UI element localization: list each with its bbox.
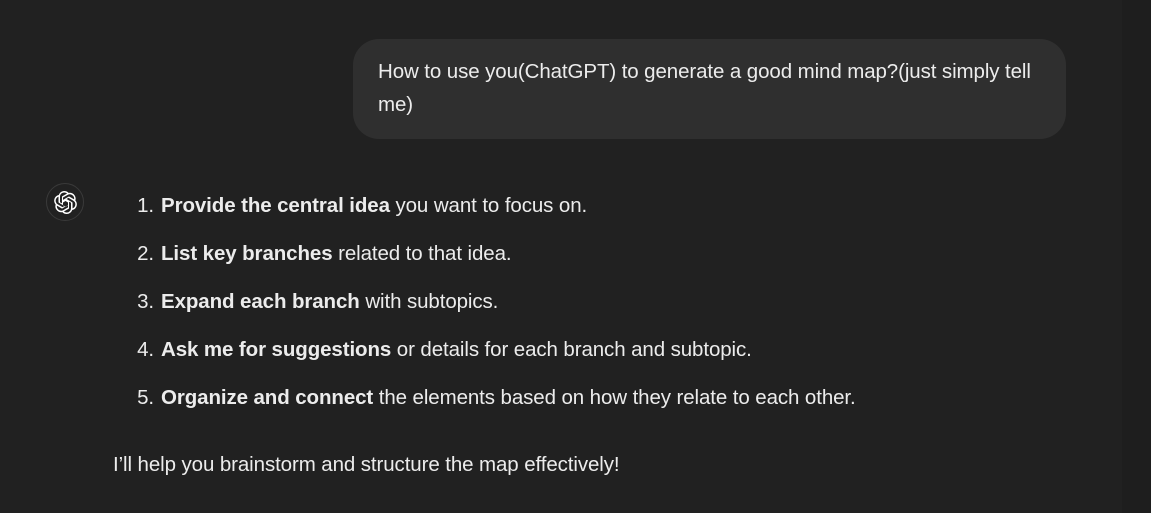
chat-conversation-view: How to use you(ChatGPT) to generate a go…	[0, 0, 1151, 513]
list-item-bold-text: Expand each branch	[161, 290, 360, 313]
openai-logo-icon	[54, 191, 77, 214]
list-item-text: the elements based on how they relate to…	[373, 386, 855, 409]
list-item: 3. Expand each branch with subtopics.	[113, 278, 1113, 326]
list-item-marker: 2.	[128, 230, 154, 278]
list-item-marker: 4.	[128, 326, 154, 374]
list-item: 1. Provide the central idea you want to …	[113, 182, 1113, 230]
list-item-text: related to that idea.	[333, 242, 512, 265]
list-item: 4. Ask me for suggestions or details for…	[113, 326, 1113, 374]
list-item-text: you want to focus on.	[390, 194, 587, 217]
assistant-message-content: 1. Provide the central idea you want to …	[113, 182, 1113, 480]
list-item-marker: 3.	[128, 278, 154, 326]
list-item: 5. Organize and connect the elements bas…	[113, 374, 1113, 422]
user-message-turn: How to use you(ChatGPT) to generate a go…	[0, 39, 1122, 139]
list-item-text: with subtopics.	[360, 290, 499, 313]
list-item-marker: 1.	[128, 182, 154, 230]
assistant-avatar	[46, 183, 84, 221]
list-item: 2. List key branches related to that ide…	[113, 230, 1113, 278]
assistant-closing-paragraph: I’ll help you brainstorm and structure t…	[113, 422, 1113, 480]
list-item-bold-text: List key branches	[161, 242, 333, 265]
list-item-bold-text: Organize and connect	[161, 386, 373, 409]
scrollbar-gutter[interactable]	[1122, 0, 1151, 513]
list-item-text: or details for each branch and subtopic.	[391, 338, 752, 361]
assistant-steps-list: 1. Provide the central idea you want to …	[113, 182, 1113, 422]
list-item-bold-text: Ask me for suggestions	[161, 338, 391, 361]
user-message-bubble[interactable]: How to use you(ChatGPT) to generate a go…	[353, 39, 1066, 139]
list-item-marker: 5.	[128, 374, 154, 422]
list-item-bold-text: Provide the central idea	[161, 194, 390, 217]
